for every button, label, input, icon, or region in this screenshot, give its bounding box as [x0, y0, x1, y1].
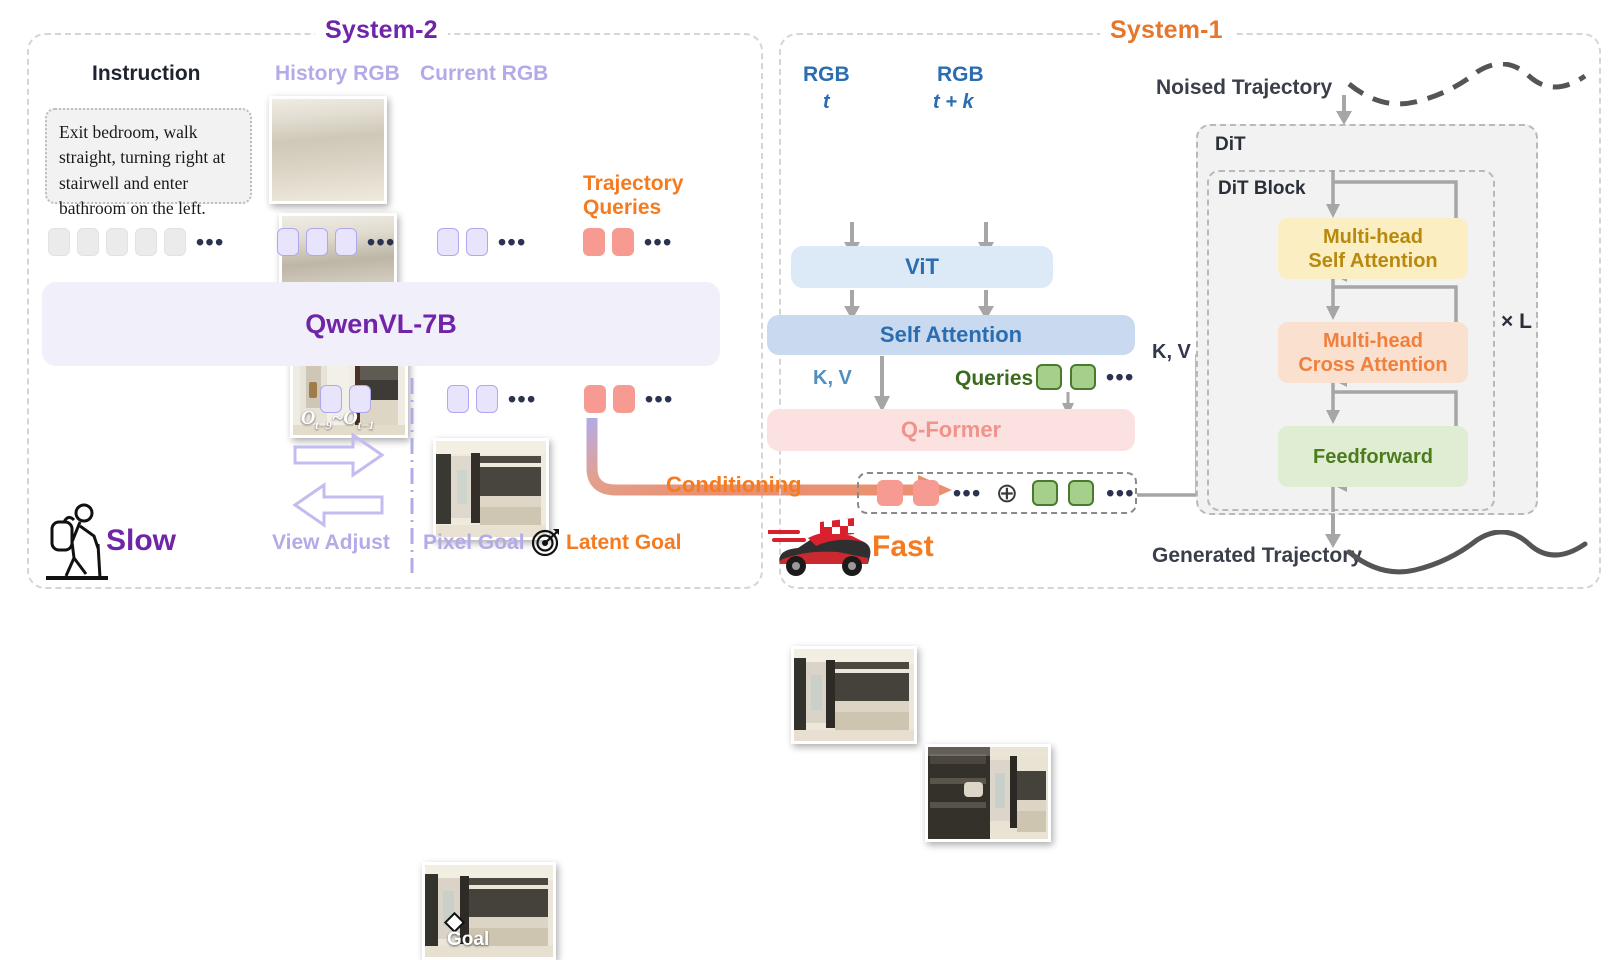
rgb-t-value: t — [823, 91, 830, 114]
token-lavender — [320, 385, 342, 413]
token-gray — [48, 228, 70, 256]
fused-token-box: ••• ⊕ ••• — [857, 472, 1137, 514]
view-adjust-label: View Adjust — [272, 531, 390, 555]
token-red — [612, 228, 634, 256]
trajectory-queries-header: Trajectory Queries — [583, 172, 683, 220]
instruction-box: Exit bedroom, walk straight, turning rig… — [45, 108, 252, 204]
qwenvl-box: QwenVL-7B — [42, 282, 720, 366]
token-lavender — [335, 228, 357, 256]
view-adjust-token-row — [320, 385, 371, 413]
target-icon — [531, 527, 561, 557]
token-red — [877, 480, 903, 506]
ffw-label: Feedforward — [1313, 445, 1433, 469]
token-lavender — [306, 228, 328, 256]
current-rgb-image — [433, 438, 549, 540]
msa-line1: Multi-head — [1323, 225, 1423, 249]
mca-line2: Cross Attention — [1298, 353, 1447, 377]
trajectory-queries-line2: Queries — [583, 196, 683, 220]
race-car-icon — [768, 516, 876, 578]
qformer-box: Q-Former — [767, 409, 1135, 451]
pixel-goal-token-row: ••• — [447, 385, 537, 413]
ellipsis: ••• — [196, 231, 225, 254]
rgb-t-image — [791, 646, 917, 744]
plus-icon: ⊕ — [996, 480, 1019, 507]
queries-label: Queries — [955, 367, 1033, 391]
token-red — [913, 480, 939, 506]
msa-line2: Self Attention — [1308, 249, 1437, 273]
token-gray — [77, 228, 99, 256]
history-rgb-image-3 — [269, 96, 387, 204]
token-green — [1032, 480, 1058, 506]
ellipsis: ••• — [498, 231, 527, 254]
rgb-tk-value: t + k — [933, 91, 974, 114]
latent-goal-label: Latent Goal — [566, 531, 682, 555]
kv-label-qformer: K, V — [813, 367, 852, 390]
view-adjust-arrows — [290, 425, 410, 535]
token-lavender — [437, 228, 459, 256]
multihead-cross-attention-box: Multi-head Cross Attention — [1278, 322, 1468, 383]
self-attention-box: Self Attention — [767, 315, 1135, 355]
instruction-token-row: ••• — [48, 228, 225, 256]
ellipsis: ••• — [367, 231, 396, 254]
token-gray — [164, 228, 186, 256]
noised-trajectory-label: Noised Trajectory — [1156, 76, 1332, 100]
token-red — [584, 385, 606, 413]
arrow-selfattn-to-qformer — [872, 356, 912, 416]
token-lavender — [476, 385, 498, 413]
ellipsis: ••• — [953, 482, 982, 505]
goal-marker-label: Goal — [447, 929, 489, 951]
generated-trajectory-label: Generated Trajectory — [1152, 544, 1362, 568]
pixel-goal-label: Pixel Goal — [423, 531, 525, 555]
token-lavender — [447, 385, 469, 413]
vit-box: ViT — [791, 246, 1053, 288]
current-rgb-header: Current RGB — [420, 62, 548, 86]
slow-label: Slow — [106, 524, 176, 558]
trajectory-queries-line1: Trajectory — [583, 172, 683, 196]
qwenvl-label: QwenVL-7B — [305, 309, 457, 340]
mca-line1: Multi-head — [1323, 329, 1423, 353]
arrow-noise-to-dit — [1332, 95, 1356, 127]
system1-title: System-1 — [1100, 16, 1233, 45]
ellipsis: ••• — [644, 231, 673, 254]
ellipsis: ••• — [508, 388, 537, 411]
kv-label-dit: K, V — [1152, 341, 1191, 364]
token-lavender — [466, 228, 488, 256]
token-gray — [106, 228, 128, 256]
history-token-row: ••• — [277, 228, 396, 256]
token-green — [1070, 364, 1096, 390]
hiker-icon — [42, 500, 114, 580]
rgb-tk-image — [925, 744, 1051, 842]
instruction-header: Instruction — [92, 62, 201, 86]
token-lavender — [277, 228, 299, 256]
noised-trajectory-curve — [1345, 62, 1595, 112]
token-gray — [135, 228, 157, 256]
current-token-row: ••• — [437, 228, 527, 256]
rgb-t-label: RGB — [803, 63, 850, 87]
multihead-self-attention-box: Multi-head Self Attention — [1278, 218, 1468, 279]
repeat-label: × L — [1501, 310, 1532, 334]
generated-trajectory-curve — [1345, 530, 1595, 580]
token-green — [1036, 364, 1062, 390]
latent-goal-token-row: ••• — [584, 385, 674, 413]
system2-title: System-2 — [315, 16, 448, 45]
token-green — [1068, 480, 1094, 506]
history-rgb-header: History RGB — [275, 62, 400, 86]
pixel-goal-image: Goal — [422, 862, 556, 960]
token-lavender — [349, 385, 371, 413]
feedforward-box: Feedforward — [1278, 426, 1468, 487]
token-red — [583, 228, 605, 256]
dit-label: DiT — [1215, 134, 1246, 156]
trajectory-query-token-row: ••• — [583, 228, 673, 256]
token-red — [613, 385, 635, 413]
ellipsis: ••• — [645, 388, 674, 411]
fast-label: Fast — [872, 530, 934, 564]
rgb-tk-label: RGB — [937, 63, 984, 87]
